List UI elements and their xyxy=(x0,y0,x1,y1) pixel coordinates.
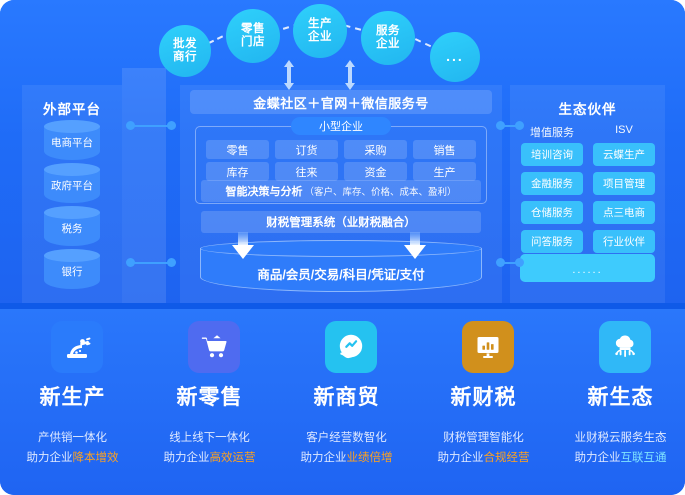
bubble-manufacturing-line2: 企业 xyxy=(308,31,332,44)
smart-analytics-bar[interactable]: 智能决策与分析（客户、库存、价格、成本、盈利） xyxy=(201,180,481,202)
feature-line2-2: 助力企业高效运营 xyxy=(141,449,278,465)
bubble-wholesale[interactable]: 批发 商行 xyxy=(159,25,211,77)
feature-new-commerce[interactable]: 新商贸 客户经营数智化 助力企业业绩倍增 xyxy=(278,309,415,495)
connector-left-top xyxy=(126,121,176,130)
connector-dot xyxy=(126,258,135,267)
left-item-government[interactable]: 政府平台 xyxy=(44,163,100,207)
left-item-bank[interactable]: 银行 xyxy=(44,249,100,293)
bubble-retail-store[interactable]: 零售 门店 xyxy=(226,9,280,63)
right-chip-more[interactable]: ...... xyxy=(520,254,655,282)
left-panel-title: 外部平台 xyxy=(22,98,122,118)
feature-line1-3: 客户经营数智化 xyxy=(278,429,415,445)
bubble-service-line2: 企业 xyxy=(376,38,400,51)
center-chip-purchase[interactable]: 采购 xyxy=(344,140,407,159)
bubble-more[interactable]: ... xyxy=(430,32,480,82)
smart-analytics-sub: （客户、库存、价格、成本、盈利） xyxy=(304,184,456,198)
feature-line2-prefix-4: 助力企业 xyxy=(438,452,484,464)
bubble-service-line1: 服务 xyxy=(376,25,400,38)
left-separator-background xyxy=(122,68,166,305)
feature-line1-1: 产供销一体化 xyxy=(4,429,141,445)
feature-line1-4: 财税管理智能化 xyxy=(415,429,552,445)
feature-title-5: 新生态 xyxy=(552,381,685,411)
feature-line2-highlight-3: 业绩倍增 xyxy=(347,452,393,464)
center-chip-sales[interactable]: 销售 xyxy=(413,140,476,159)
bubble-retail-line1: 零售 xyxy=(241,23,265,36)
connector-left-bottom xyxy=(126,258,176,267)
center-chip-payables[interactable]: 往来 xyxy=(275,162,338,181)
bubble-retail-line2: 门店 xyxy=(241,36,265,49)
bubble-wholesale-line1: 批发 xyxy=(173,38,197,51)
bubble-manufacturing[interactable]: 生产 企业 xyxy=(293,4,347,58)
down-arrow-left-icon xyxy=(232,232,254,260)
connector-line xyxy=(131,262,171,264)
feature-line2-prefix-5: 助力企业 xyxy=(575,452,621,464)
feature-tile-1 xyxy=(51,321,103,373)
left-item-government-label: 政府平台 xyxy=(51,178,93,193)
feature-line2-4: 助力企业合规经营 xyxy=(415,449,552,465)
bubble-more-label: ... xyxy=(446,49,464,65)
right-chip-finance[interactable]: 金融服务 xyxy=(521,172,583,195)
bubble-service[interactable]: 服务 企业 xyxy=(361,11,415,65)
feature-line2-prefix-2: 助力企业 xyxy=(164,452,210,464)
feature-new-finance-tax[interactable]: 新财税 财税管理智能化 助力企业合规经营 xyxy=(415,309,552,495)
down-arrow-right-icon xyxy=(404,232,426,260)
cylinder-cap xyxy=(44,163,100,176)
feature-line1-5: 业财税云服务生态 xyxy=(552,429,685,445)
connector-line xyxy=(131,125,171,127)
sme-pill-label: 小型企业 xyxy=(291,117,391,135)
feature-line1-2: 线上线下一体化 xyxy=(141,429,278,445)
feature-line2-highlight-2: 高效运营 xyxy=(210,452,256,464)
right-chip-qa[interactable]: 问答服务 xyxy=(521,230,583,253)
connector-dot xyxy=(126,121,135,130)
bar-chart-monitor-icon xyxy=(473,332,503,362)
connector-dot xyxy=(496,258,505,267)
bubble-wholesale-line2: 商行 xyxy=(173,51,197,64)
feature-tile-3 xyxy=(325,321,377,373)
feature-line2-prefix-3: 助力企业 xyxy=(301,452,347,464)
robot-arm-icon xyxy=(62,332,92,362)
feature-line2-3: 助力企业业绩倍增 xyxy=(278,449,415,465)
connector-dot xyxy=(496,121,505,130)
feature-tile-5 xyxy=(599,321,651,373)
feature-title-2: 新零售 xyxy=(141,381,278,411)
bubble-manufacturing-line1: 生产 xyxy=(308,18,332,31)
right-chip-dianthree[interactable]: 点三电商 xyxy=(593,201,655,224)
right-chip-project[interactable]: 项目管理 xyxy=(593,172,655,195)
cylinder-cap xyxy=(44,206,100,219)
center-header-bar: 金蝶社区＋官网＋微信服务号 xyxy=(190,90,492,114)
right-chip-industry[interactable]: 行业伙伴 xyxy=(593,230,655,253)
features-section: 新生产 产供销一体化 助力企业降本增效 xyxy=(0,309,685,495)
right-chip-training[interactable]: 培训咨询 xyxy=(521,143,583,166)
left-item-tax-label: 税务 xyxy=(62,221,83,236)
center-chip-ordering[interactable]: 订货 xyxy=(275,140,338,159)
data-cylinder-label: 商品/会员/交易/科目/凭证/支付 xyxy=(200,260,482,286)
right-panel-title: 生态伙伴 xyxy=(510,98,665,118)
feature-title-3: 新商贸 xyxy=(278,381,415,411)
feature-line2-highlight-1: 降本增效 xyxy=(73,452,119,464)
feature-line2-highlight-4: 合规经营 xyxy=(484,452,530,464)
left-item-ecommerce[interactable]: 电商平台 xyxy=(44,120,100,164)
feature-tile-4 xyxy=(462,321,514,373)
feature-line2-prefix-1: 助力企业 xyxy=(27,452,73,464)
shopping-cart-icon xyxy=(199,332,229,362)
feature-new-ecosystem[interactable]: 新生态 业财税云服务生态 助力企业互联互通 xyxy=(552,309,685,495)
double-arrow-left-icon xyxy=(283,60,295,90)
connector-right-bottom xyxy=(496,258,526,267)
connector-dot xyxy=(167,121,176,130)
finance-system-bar[interactable]: 财税管理系统（业财税融合） xyxy=(201,211,481,233)
connector-dot xyxy=(515,121,524,130)
right-col1-title: 增值服务 xyxy=(520,124,584,140)
smart-analytics-main: 智能决策与分析 xyxy=(225,183,302,199)
center-chip-inventory[interactable]: 库存 xyxy=(206,162,269,181)
infographic-root: 批发 商行 零售 门店 生产 企业 服务 企业 ... xyxy=(0,0,685,495)
feature-new-production[interactable]: 新生产 产供销一体化 助力企业降本增效 xyxy=(4,309,141,495)
feature-line2-5: 助力企业互联互通 xyxy=(552,449,685,465)
connector-dot xyxy=(515,258,524,267)
center-chip-production[interactable]: 生产 xyxy=(413,162,476,181)
left-item-ecommerce-label: 电商平台 xyxy=(51,135,93,150)
double-arrow-right-icon xyxy=(344,60,356,90)
architecture-section: 批发 商行 零售 门店 生产 企业 服务 企业 ... xyxy=(0,0,685,305)
feature-title-4: 新财税 xyxy=(415,381,552,411)
left-item-tax[interactable]: 税务 xyxy=(44,206,100,250)
connector-dot xyxy=(167,258,176,267)
center-chip-funds[interactable]: 资金 xyxy=(344,162,407,181)
left-item-bank-label: 银行 xyxy=(62,264,83,279)
feature-new-retail[interactable]: 新零售 线上线下一体化 助力企业高效运营 xyxy=(141,309,278,495)
feature-line2-1: 助力企业降本增效 xyxy=(4,449,141,465)
cylinder-cap xyxy=(44,120,100,133)
feature-tile-2 xyxy=(188,321,240,373)
trend-wave-icon xyxy=(336,332,366,362)
feature-line2-highlight-5: 互联互通 xyxy=(621,452,667,464)
center-chip-retail[interactable]: 零售 xyxy=(206,140,269,159)
feature-title-1: 新生产 xyxy=(4,381,141,411)
cloud-network-icon xyxy=(610,332,640,362)
right-chip-yundie[interactable]: 云蝶生产 xyxy=(593,143,655,166)
cylinder-cap xyxy=(44,249,100,262)
connector-right-top xyxy=(496,121,526,130)
right-col2-title: ISV xyxy=(592,124,656,136)
right-chip-warehouse[interactable]: 仓储服务 xyxy=(521,201,583,224)
